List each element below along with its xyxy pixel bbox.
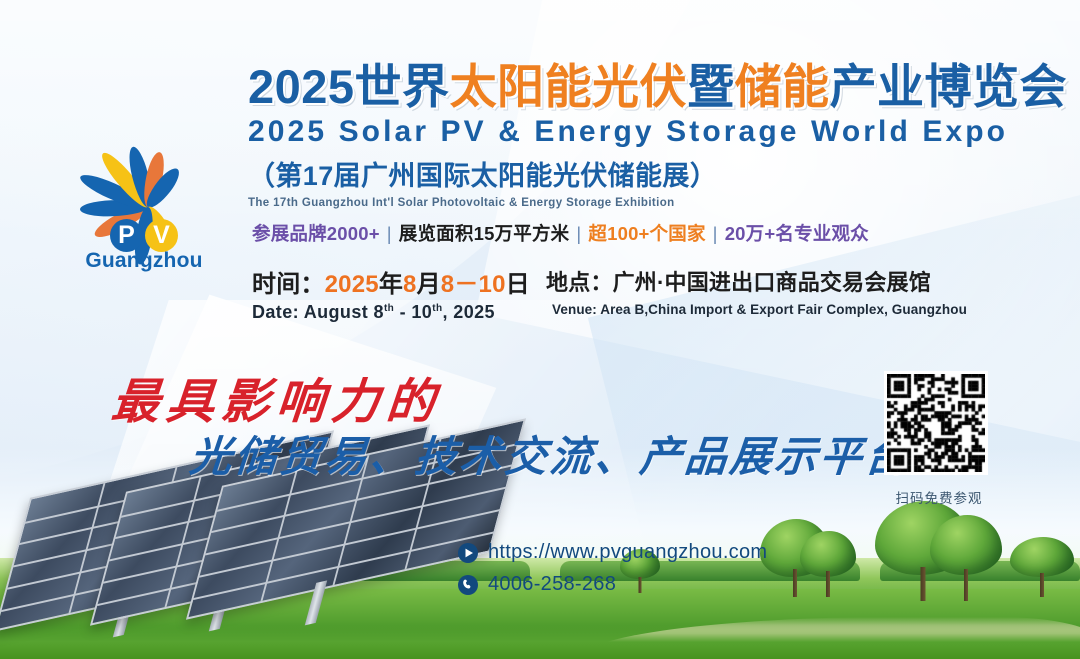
stats-separator: | — [387, 223, 392, 244]
stats-separator: | — [576, 223, 581, 244]
date-year: 2025 — [325, 271, 379, 298]
date-day-unit: 日 — [506, 271, 530, 298]
headline-block: 2025世界太阳能光伏暨储能产业博览会 2025 Solar PV & Ener… — [248, 62, 1038, 209]
date-days: 8－10 — [441, 271, 506, 298]
qr-block[interactable]: 扫码免费参观 — [884, 371, 994, 507]
date-en-mid: - 10 — [394, 302, 432, 322]
date-label-cn: 时间： — [252, 271, 325, 298]
expo-poster: P V Guangzhou 2025世界太阳能光伏暨储能产业博览会 2025 S… — [0, 0, 1080, 659]
venue-cn: 地点：广州·中国进出口商品交易会展馆 — [546, 265, 967, 297]
stats-item-1: 展览面积15万平方米 — [399, 223, 570, 244]
venue-label-cn: 地点： — [546, 270, 613, 295]
play-circle-icon — [458, 543, 478, 563]
date-en-sup1: th — [384, 303, 394, 314]
phone-text[interactable]: 4006-258-268 — [488, 573, 616, 596]
website-row[interactable]: https://www.pvguangzhou.com — [458, 541, 767, 564]
date-en: Date: August 8th - 10th, 2025 — [252, 302, 530, 323]
website-text[interactable]: https://www.pvguangzhou.com — [488, 541, 767, 564]
stats-item-0: 参展品牌2000+ — [252, 223, 380, 244]
date-en-sup2: th — [432, 303, 442, 314]
subtitle-cn: （第17届广州国际太阳能光伏储能展） — [248, 154, 1038, 193]
logo-letter-p: P — [110, 219, 143, 252]
date-en-prefix: Date: August 8 — [252, 302, 384, 322]
phone-row[interactable]: 4006-258-268 — [458, 573, 767, 596]
tree — [800, 531, 856, 597]
main-title-en: 2025 Solar PV & Energy Storage World Exp… — [248, 115, 1038, 149]
qr-code-image[interactable] — [884, 371, 988, 475]
stats-item-2: 超100+个国家 — [588, 223, 705, 244]
logo-wordmark: P V Guangzhou — [44, 219, 244, 273]
logo-city-name: Guangzhou — [44, 249, 244, 273]
venue-value-cn: 广州·中国进出口商品交易会展馆 — [613, 270, 931, 295]
slogan-line-1: 最具影响力的 — [109, 362, 445, 432]
main-title-segment-0: 2025世界 — [248, 60, 450, 113]
main-title-segment-2: 暨 — [687, 60, 735, 113]
date-month: 8 — [403, 271, 417, 298]
slogan-line-2: 光储贸易、技术交流、产品展示平台! — [187, 423, 934, 484]
contact-block: https://www.pvguangzhou.com 4006-258-268 — [458, 541, 767, 605]
pv-guangzhou-logo: P V Guangzhou — [44, 92, 244, 277]
grass-near — [0, 625, 1080, 659]
main-title-segment-4: 产业博览会 — [830, 60, 1068, 113]
venue-block: 地点：广州·中国进出口商品交易会展馆 Venue: Area B,China I… — [546, 265, 967, 317]
date-month-unit: 月 — [417, 271, 441, 298]
stats-strip: 参展品牌2000+|展览面积15万平方米|超100+个国家|20万+名专业观众 — [252, 220, 869, 246]
subtitle-en: The 17th Guangzhou Int'l Solar Photovolt… — [248, 197, 1038, 209]
stats-item-3: 20万+名专业观众 — [725, 223, 869, 244]
stats-separator: | — [713, 223, 718, 244]
date-year-unit: 年 — [379, 271, 403, 298]
main-title-segment-3: 储能 — [735, 60, 830, 113]
date-en-suffix: , 2025 — [442, 302, 494, 322]
date-cn: 时间：2025年8月8－10日 — [252, 264, 530, 299]
main-title-cn: 2025世界太阳能光伏暨储能产业博览会 — [248, 62, 1038, 113]
logo-letter-v: V — [145, 219, 178, 252]
phone-circle-icon — [458, 575, 478, 595]
venue-en: Venue: Area B,China Import & Export Fair… — [552, 302, 967, 317]
qr-caption: 扫码免费参观 — [884, 487, 994, 507]
tree — [1010, 537, 1074, 597]
tree — [930, 515, 1002, 601]
main-title-segment-1: 太阳能光伏 — [450, 60, 688, 113]
date-block: 时间：2025年8月8－10日 Date: August 8th - 10th,… — [252, 264, 530, 323]
